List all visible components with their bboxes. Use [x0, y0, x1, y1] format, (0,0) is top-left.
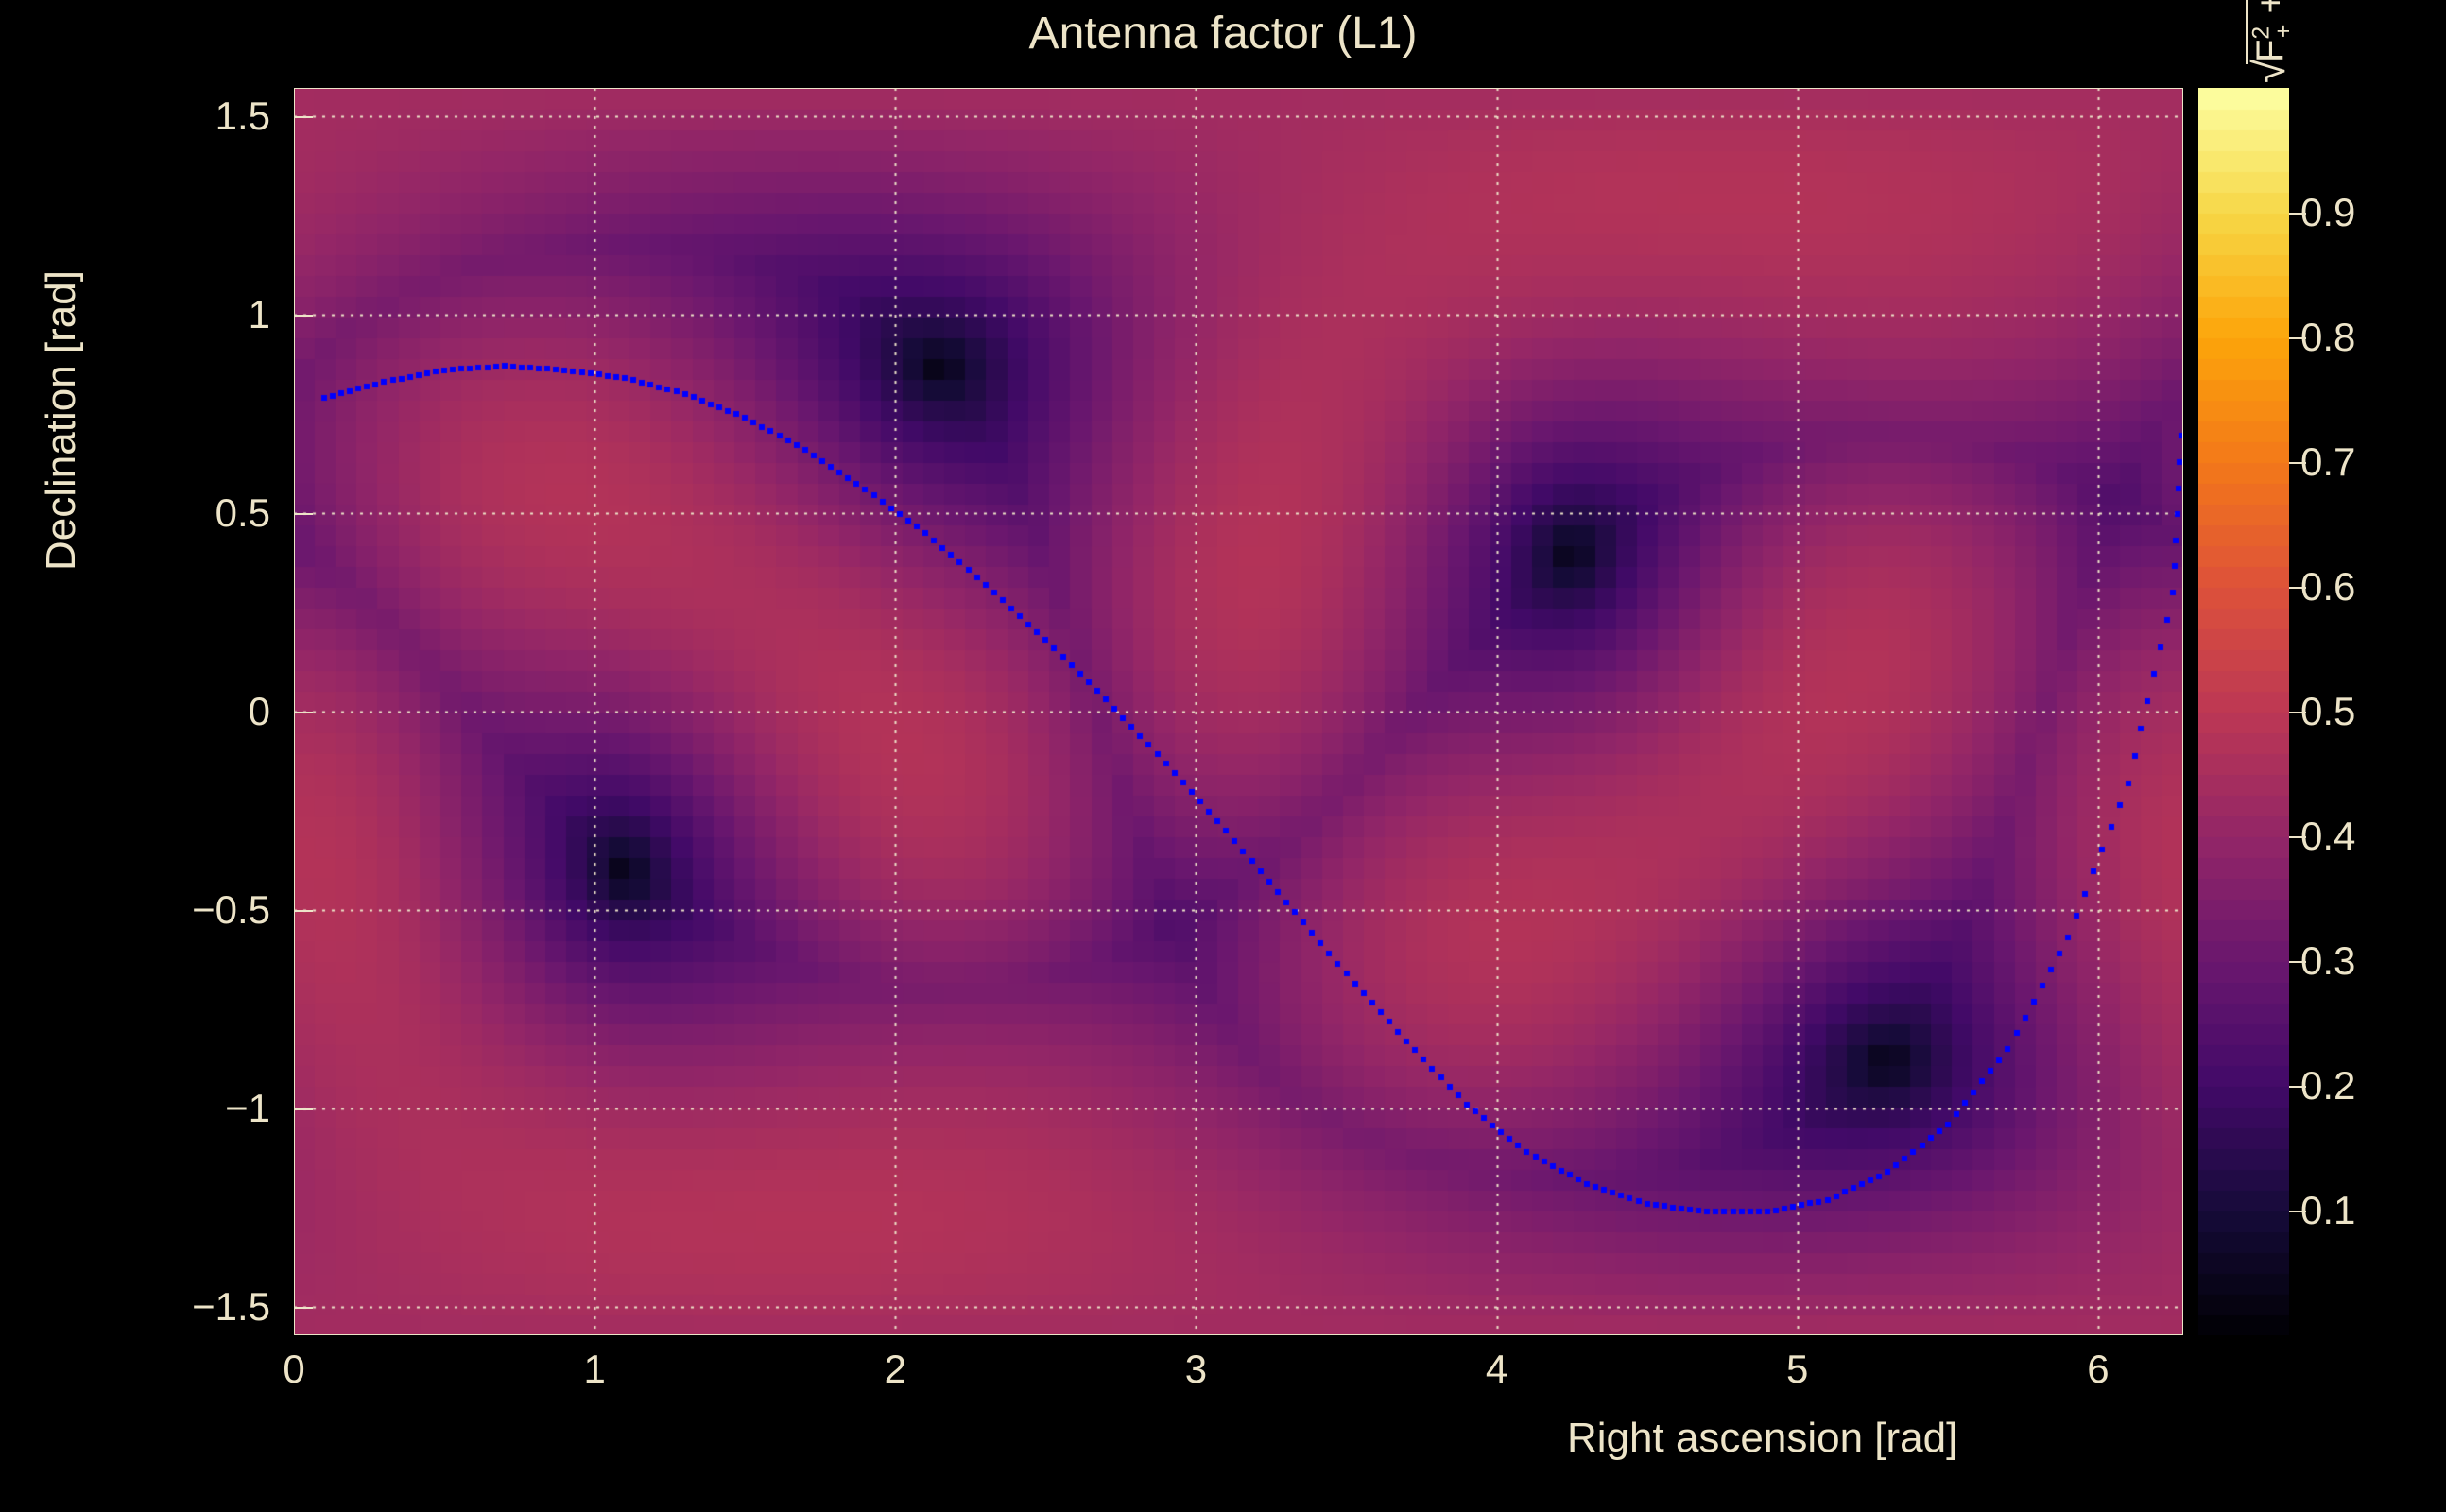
y-tick-label: −0.5: [192, 887, 270, 933]
radical-icon: √: [2244, 60, 2295, 83]
x-tick-label: 1: [538, 1347, 651, 1392]
colorbar-tick-label: 0.6: [2300, 564, 2355, 610]
colorbar-tick-mark: [2289, 836, 2306, 838]
colorbar-tick-label: 0.9: [2300, 190, 2355, 235]
y-tick-mark: [294, 513, 313, 515]
colorbar-title-term: F2+: [2249, 25, 2291, 62]
y-tick-mark: [294, 712, 313, 713]
colorbar-tick-mark: [2289, 462, 2306, 464]
x-tick-label: 5: [1741, 1347, 1854, 1392]
colorbar: [2198, 88, 2289, 1335]
x-tick-label: 3: [1139, 1347, 1252, 1392]
y-tick-mark: [294, 1108, 313, 1110]
colorbar-tick-label: 0.3: [2300, 938, 2355, 984]
y-tick-label: 1.5: [215, 94, 270, 139]
y-tick-label: −1: [225, 1086, 270, 1131]
y-axis-label: Declination [rad]: [38, 90, 85, 751]
colorbar-tick-mark: [2289, 337, 2306, 339]
colorbar-title-operator: +: [2249, 0, 2291, 25]
y-tick-label: −1.5: [192, 1284, 270, 1330]
colorbar-tick-label: 0.1: [2300, 1188, 2355, 1233]
y-tick-label: 0.5: [215, 490, 270, 536]
colorbar-tick-mark: [2289, 961, 2306, 963]
y-tick-mark: [294, 910, 313, 912]
colorbar-tick-mark: [2289, 1211, 2306, 1212]
x-tick-label: 0: [237, 1347, 351, 1392]
x-axis-label: Right ascension [rad]: [1567, 1415, 1957, 1462]
x-tick-label: 2: [838, 1347, 952, 1392]
x-tick-label: 4: [1440, 1347, 1554, 1392]
heatmap-plot: [294, 88, 2183, 1335]
colorbar-tick-mark: [2289, 587, 2306, 589]
colorbar-tick-label: 0.2: [2300, 1063, 2355, 1108]
y-tick-label: 1: [249, 292, 270, 337]
y-tick-label: 0: [249, 689, 270, 734]
colorbar-tick-mark: [2289, 712, 2306, 713]
x-tick-label: 6: [2041, 1347, 2155, 1392]
chart-canvas: Antenna factor (L1) Declination [rad] 1.…: [0, 0, 2446, 1512]
y-tick-mark: [294, 315, 313, 317]
colorbar-gradient: [2198, 88, 2289, 1335]
colorbar-tick-label: 0.7: [2300, 439, 2355, 485]
colorbar-title-expression: √F2+ + F2x: [2248, 0, 2298, 83]
colorbar-tick-label: 0.4: [2300, 814, 2355, 859]
overlay-curve: [294, 88, 2183, 1335]
page-title: Antenna factor (L1): [0, 8, 2446, 60]
y-tick-mark: [294, 1307, 313, 1309]
colorbar-tick-label: 0.5: [2300, 689, 2355, 734]
colorbar-tick-mark: [2289, 1086, 2306, 1088]
radical-overbar: [2246, 0, 2248, 64]
colorbar-tick-mark: [2289, 213, 2306, 215]
colorbar-title: √F2+ + F2x: [2248, 0, 2285, 83]
y-tick-mark: [294, 116, 313, 118]
colorbar-tick-label: 0.8: [2300, 315, 2355, 360]
